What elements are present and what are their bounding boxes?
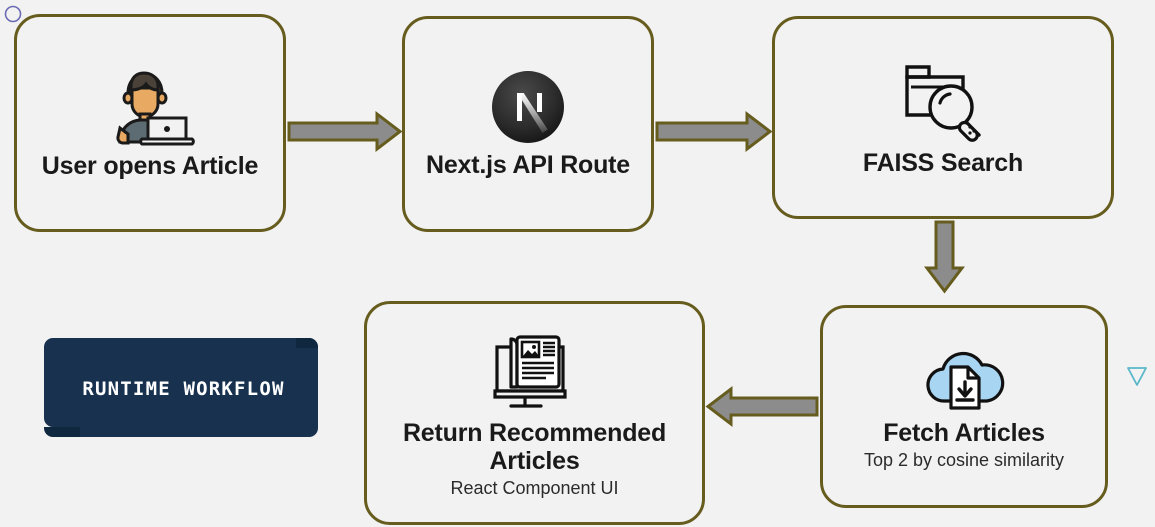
connector-fetch-to-return	[708, 389, 817, 424]
circle-outline-icon	[6, 7, 21, 22]
cloud-download-icon	[923, 341, 1005, 413]
node-title: Next.js API Route	[426, 151, 630, 179]
banner-label: RUNTIME WORKFLOW	[50, 340, 317, 438]
node-subtitle: React Component UI	[450, 478, 618, 500]
person-at-laptop-icon	[102, 66, 198, 146]
node-title: FAISS Search	[863, 149, 1023, 177]
node-title: User opens Article	[42, 152, 258, 180]
connector-user-to-api	[289, 114, 400, 149]
node-title: Return Recommended Articles	[377, 419, 692, 475]
node-fetch-articles[interactable]: Fetch Articles Top 2 by cosine similarit…	[820, 305, 1108, 508]
node-title: Fetch Articles	[883, 419, 1045, 447]
node-nextjs-api-route[interactable]: Next.js API Route	[402, 16, 654, 232]
node-return-recommended-articles[interactable]: Return Recommended Articles React Compon…	[364, 301, 705, 525]
nextjs-logo-icon	[490, 69, 566, 145]
connector-api-to-faiss	[657, 114, 770, 149]
node-faiss-search[interactable]: FAISS Search	[772, 16, 1114, 219]
folder-search-icon	[895, 59, 991, 143]
node-subtitle: Top 2 by cosine similarity	[864, 450, 1064, 472]
connector-faiss-to-fetch	[927, 222, 962, 291]
node-user-opens-article[interactable]: User opens Article	[14, 14, 286, 232]
triangle-outline-icon	[1128, 368, 1146, 385]
runtime-workflow-banner: RUNTIME WORKFLOW	[50, 340, 317, 438]
news-monitor-icon	[487, 327, 583, 413]
